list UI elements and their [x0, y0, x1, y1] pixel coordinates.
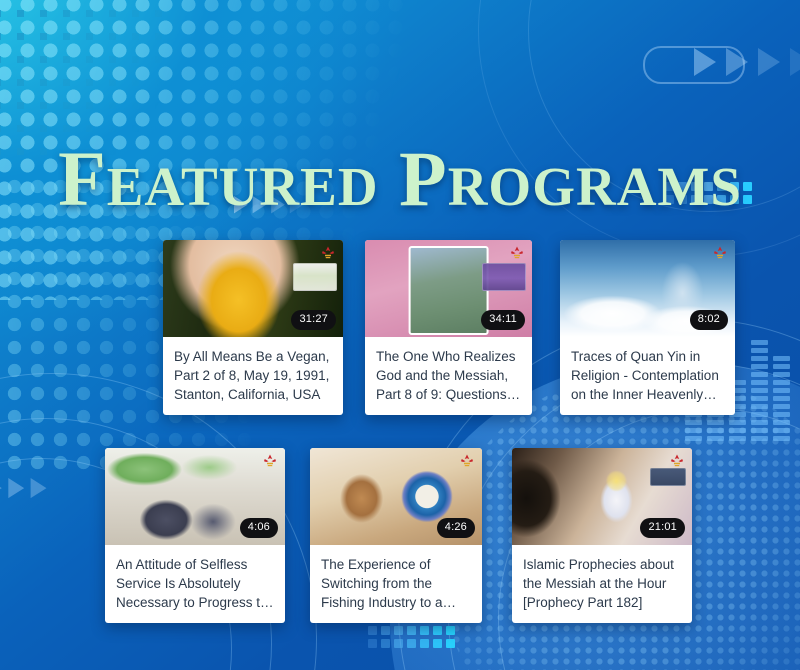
thumbnail-info-strip [293, 263, 337, 291]
thumbnail-info-strip [650, 468, 686, 486]
program-title: The One Who Realizes God and the Messiah… [365, 337, 532, 415]
channel-logo-icon [711, 245, 729, 260]
duration-badge: 4:26 [437, 518, 475, 538]
program-card[interactable]: 4:06 An Attitude of Selfless Service Is … [105, 448, 285, 623]
program-thumbnail[interactable]: 31:27 [163, 240, 343, 337]
program-thumbnail[interactable]: 4:06 [105, 448, 285, 545]
program-title: Traces of Quan Yin in Religion - Contemp… [560, 337, 735, 415]
program-title: By All Means Be a Vegan, Part 2 of 8, Ma… [163, 337, 343, 415]
program-thumbnail[interactable]: 21:01 [512, 448, 692, 545]
program-card[interactable]: 34:11 The One Who Realizes God and the M… [365, 240, 532, 415]
duration-badge: 4:06 [240, 518, 278, 538]
play-triangle-group-left [0, 478, 46, 498]
page-title: Featured Programs [0, 140, 800, 218]
program-thumbnail[interactable]: 4:26 [310, 448, 482, 545]
play-triangle-icon [726, 48, 748, 76]
play-triangle-icon [31, 478, 47, 498]
play-triangle-icon [8, 478, 24, 498]
play-triangle-icon [758, 48, 780, 76]
program-thumbnail[interactable]: 34:11 [365, 240, 532, 337]
program-card[interactable]: 31:27 By All Means Be a Vegan, Part 2 of… [163, 240, 343, 415]
channel-logo-icon [458, 453, 476, 468]
channel-logo-icon [261, 453, 279, 468]
play-triangle-group-top-right [694, 48, 800, 76]
program-card[interactable]: 21:01 Islamic Prophecies about the Messi… [512, 448, 692, 623]
duration-badge: 8:02 [690, 310, 728, 330]
play-triangle-icon [790, 48, 800, 76]
square-grid-pattern-bottom [368, 626, 455, 648]
program-card[interactable]: 8:02 Traces of Quan Yin in Religion - Co… [560, 240, 735, 415]
duration-badge: 34:11 [481, 310, 525, 330]
channel-logo-icon [319, 245, 337, 260]
channel-logo-icon [508, 245, 526, 260]
play-triangle-icon [0, 478, 2, 498]
thumbnail-info-strip [482, 263, 526, 291]
program-title: Islamic Prophecies about the Messiah at … [512, 545, 692, 623]
program-card[interactable]: 4:26 The Experience of Switching from th… [310, 448, 482, 623]
program-title: The Experience of Switching from the Fis… [310, 545, 482, 623]
program-title: An Attitude of Selfless Service Is Absol… [105, 545, 285, 623]
duration-badge: 31:27 [291, 310, 336, 330]
play-triangle-icon [694, 48, 716, 76]
program-thumbnail[interactable]: 8:02 [560, 240, 735, 337]
duration-badge: 21:01 [640, 518, 685, 538]
channel-logo-icon [668, 453, 686, 468]
featured-programs-banner: Featured Programs 31:27 By All Means Be … [0, 0, 800, 670]
